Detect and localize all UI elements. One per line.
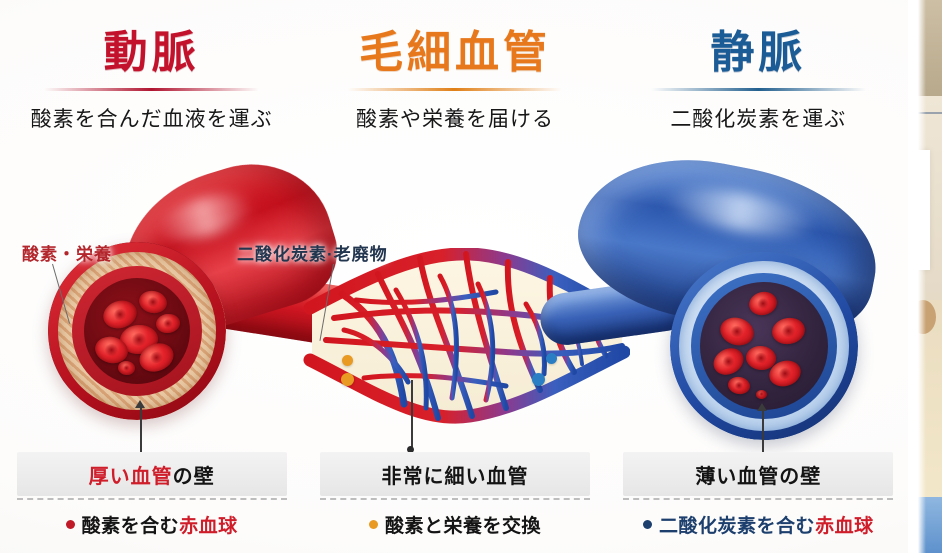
heading-rule-artery: [44, 88, 259, 91]
caption-box-artery: 厚い血管の壁: [17, 452, 287, 496]
heading-capillary: 毛細血管: [359, 24, 551, 82]
header-column-capillary: 毛細血管 酸素や栄養を届ける: [303, 24, 606, 164]
oxygen-particle-dot: [342, 355, 353, 366]
bullet-icon-vein: [643, 520, 652, 529]
header-column-vein: 静脈 二酸化炭素を運ぶ: [607, 24, 910, 164]
callout-co2-waste: 二酸化炭素·老廃物: [237, 240, 388, 265]
heading-rule-vein: [651, 88, 866, 91]
red-blood-cell: [770, 315, 807, 346]
artery-cross-section: [48, 242, 226, 420]
red-blood-cell: [709, 343, 748, 380]
subtitle-vein: 二酸化炭素を運ぶ: [670, 103, 846, 133]
caption-note-artery-part1: 酸素を合む: [82, 516, 180, 537]
oxygen-particle-dot: [341, 373, 354, 386]
caption-note-capillary: 酸素と栄養を交換: [369, 511, 541, 538]
bullet-icon-capillary: [369, 520, 378, 529]
subtitle-capillary: 酸素や栄養を届ける: [356, 103, 554, 133]
caption-note-text-vein: 二酸化炭素を合む赤血球: [659, 511, 874, 538]
heading-rule-capillary: [347, 88, 562, 91]
slide-canvas: 動脈 酸素を合んだ血液を運ぶ 毛細血管 酸素や栄養を届ける 静脈 二酸化炭素を運…: [0, 0, 942, 553]
caption-note-text-artery: 酸素を合む赤血球: [82, 511, 238, 538]
caption-note-artery: 酸素を合む赤血球: [66, 511, 238, 538]
co2-particle-dot: [546, 353, 557, 364]
caption-title-vein: 薄い血管の壁: [695, 460, 821, 489]
pointer-arrow-vein: [757, 403, 767, 411]
caption-note-artery-part2: 赤血球: [179, 516, 238, 537]
red-blood-cell: [746, 289, 779, 318]
caption-title-artery-highlight: 厚い血管: [89, 466, 173, 488]
heading-artery: 動脈: [104, 24, 200, 82]
bullet-icon-artery: [66, 520, 75, 529]
red-blood-cell: [756, 390, 767, 399]
caption-divider-artery: [17, 498, 287, 500]
vein-lumen: [700, 282, 828, 410]
caption-note-vein-part2: 赤血球: [815, 516, 874, 537]
red-blood-cell: [717, 313, 758, 349]
pointer-arrow-artery: [135, 400, 145, 408]
header-column-artery: 動脈 酸素を合んだ血液を運ぶ: [0, 24, 303, 164]
caption-note-text-capillary: 酸素と栄養を交換: [385, 511, 541, 538]
footer-caption-row: 厚い血管の壁 酸素を合む赤血球 非常に細い血管 酸素と栄養を交換 薄い血管の壁: [0, 452, 910, 553]
caption-column-capillary: 非常に細い血管 酸素と栄養を交換: [303, 452, 606, 553]
caption-column-vein: 薄い血管の壁 二酸化炭素を合む赤血球: [607, 452, 910, 553]
caption-title-artery: 厚い血管の壁: [89, 460, 215, 489]
red-blood-cell: [137, 288, 169, 315]
co2-particle-dot: [532, 373, 545, 386]
caption-box-vein: 薄い血管の壁: [623, 452, 893, 496]
caption-title-artery-rest: の壁: [173, 466, 215, 488]
caption-title-capillary: 非常に細い血管: [381, 460, 528, 489]
header-row: 動脈 酸素を合んだ血液を運ぶ 毛細血管 酸素や栄養を届ける 静脈 二酸化炭素を運…: [0, 24, 910, 164]
heading-vein: 静脈: [710, 24, 806, 82]
artery-lumen: [84, 278, 190, 384]
red-blood-cell: [727, 375, 752, 396]
caption-divider-capillary: [320, 498, 590, 500]
presenter-video-strip: [908, 0, 942, 553]
subtitle-artery: 酸素を合んだ血液を運ぶ: [31, 103, 273, 133]
caption-note-vein-part1: 二酸化炭素を合む: [659, 516, 815, 537]
caption-note-vein: 二酸化炭素を合む赤血球: [643, 511, 874, 538]
callout-oxygen-nutrients: 酸素・栄養: [22, 240, 112, 265]
caption-box-capillary: 非常に細い血管: [320, 452, 590, 496]
pointer-line-capillary: [411, 380, 413, 452]
video-edge-fade: [908, 0, 926, 553]
red-blood-cell: [117, 360, 136, 376]
caption-column-artery: 厚い血管の壁 酸素を合む赤血球: [0, 452, 303, 553]
caption-divider-vein: [623, 498, 893, 500]
vein-cross-section: [670, 252, 858, 440]
red-blood-cell: [155, 313, 181, 334]
